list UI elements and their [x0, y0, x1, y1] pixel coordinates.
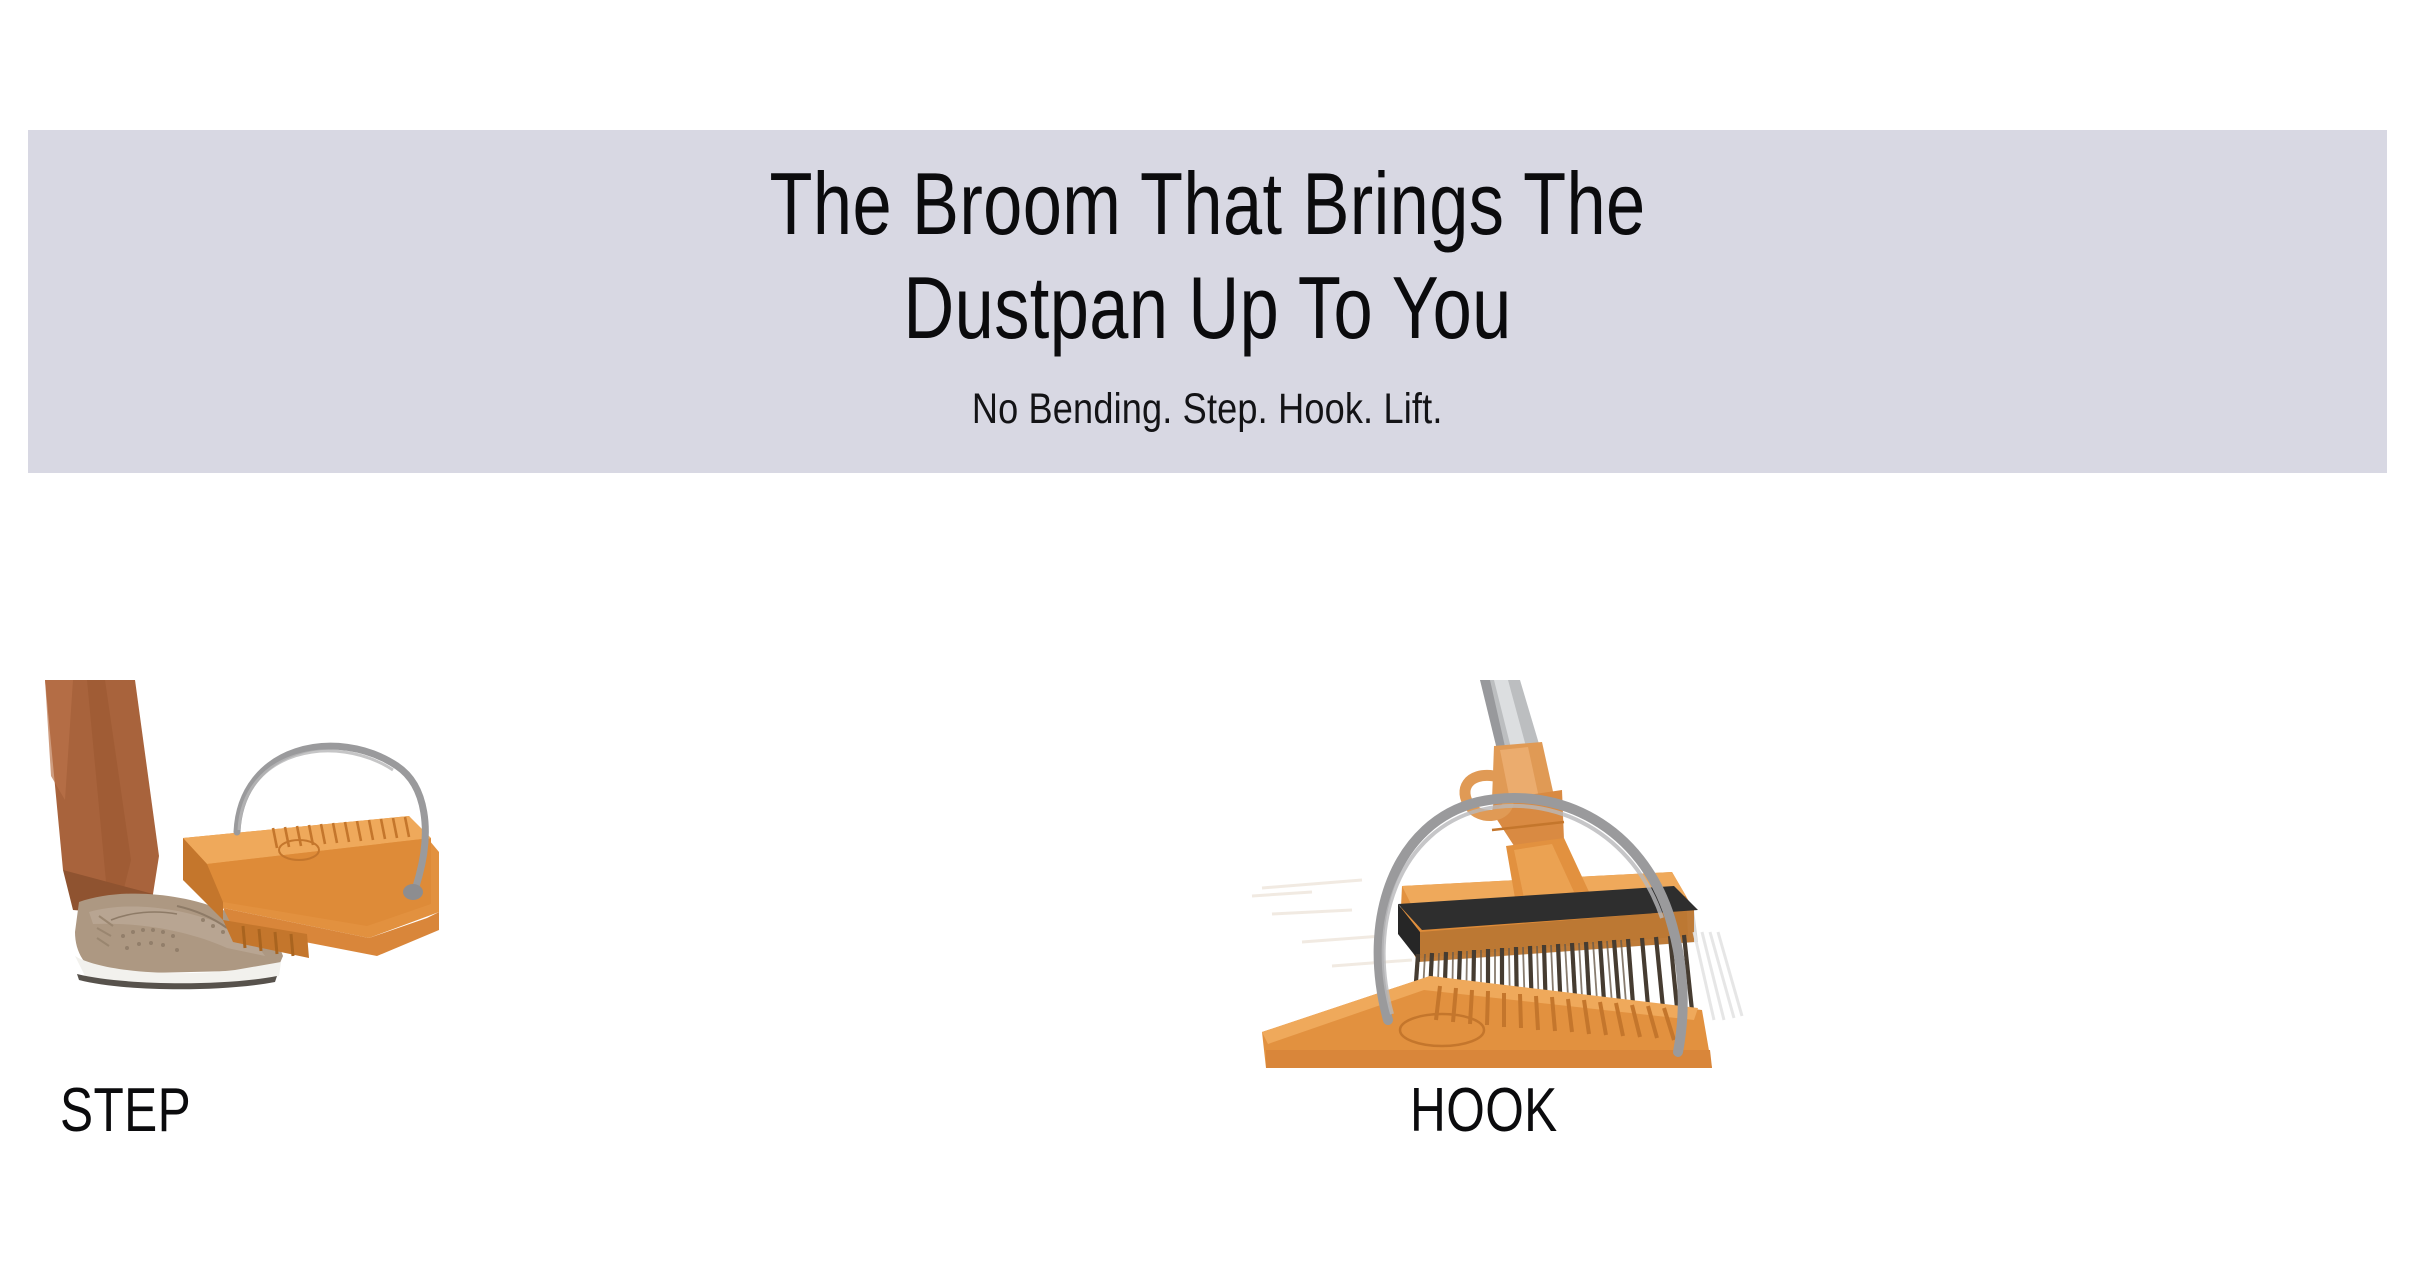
steps-row: STEP	[0, 680, 2422, 1150]
step-photo-illustration	[27, 680, 460, 1068]
page-title: The Broom That Brings The Dustpan Up To …	[769, 152, 1645, 360]
step-image-step	[27, 680, 460, 1068]
step-label-hook: HOOK	[1410, 1080, 1558, 1142]
hero-banner: The Broom That Brings The Dustpan Up To …	[28, 130, 2387, 473]
step-label-step: STEP	[60, 1080, 191, 1142]
step-image-hook	[1242, 680, 1787, 1068]
hero-subtitle: No Bending. Step. Hook. Lift.	[972, 384, 1443, 434]
landing-page: The Broom That Brings The Dustpan Up To …	[0, 0, 2422, 1269]
hook-photo-illustration	[1242, 680, 1787, 1068]
